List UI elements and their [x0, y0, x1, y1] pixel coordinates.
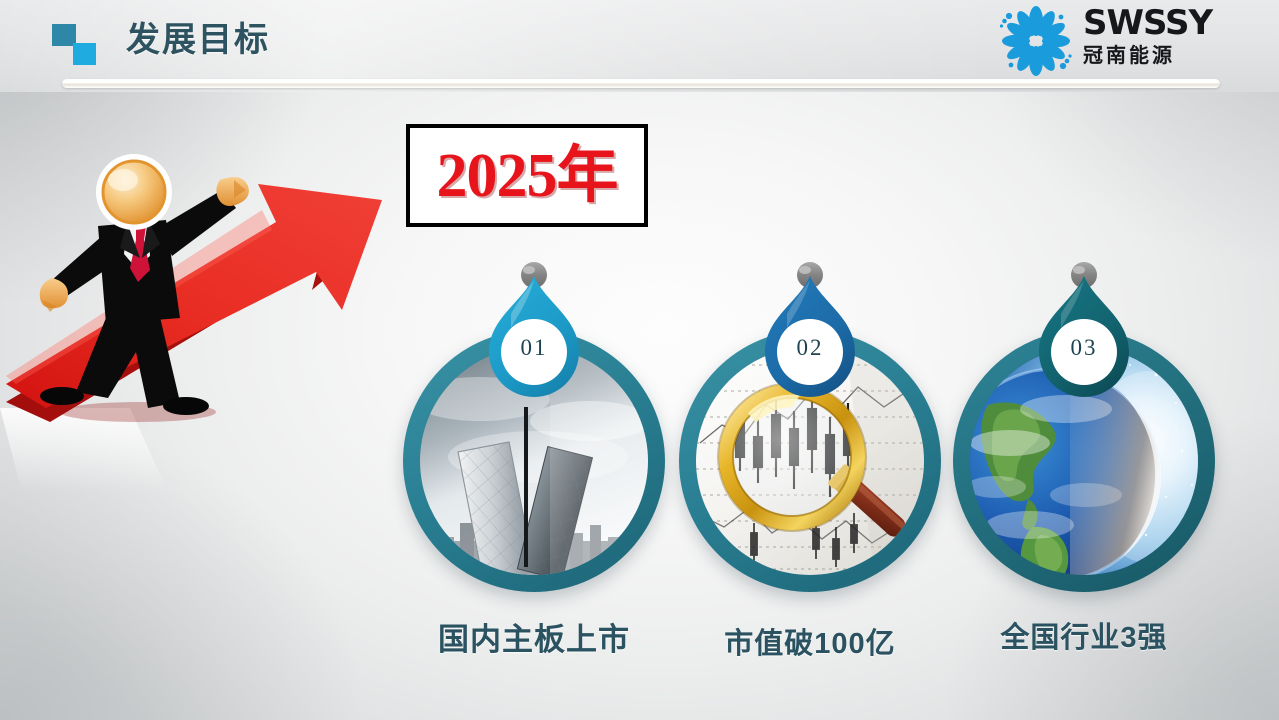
logo-subtext: 冠南能源 [1083, 43, 1263, 69]
header-divider [62, 79, 1220, 88]
badge-number-03: 03 [1021, 336, 1147, 360]
two-squares-icon [52, 24, 108, 64]
square-lower-right [73, 43, 96, 65]
company-logo: SWSSY 冠南能源 [999, 4, 1267, 78]
goal-caption-02: 市值破100亿 [653, 624, 967, 664]
badge-number-02: 02 [747, 336, 873, 360]
badge-03[interactable]: 03 [1021, 262, 1147, 414]
businessman-on-rising-red-arrow-illustration [0, 140, 410, 520]
swssy-petal-flower-logo-icon [999, 6, 1073, 76]
goal-caption-03: 全国行业3强 [927, 618, 1241, 658]
year-callout-box: 2025年 [406, 124, 648, 227]
badge-number-01: 01 [471, 336, 597, 360]
badge-02[interactable]: 02 [747, 262, 873, 414]
logo-text-block: SWSSY 冠南能源 [1083, 4, 1263, 69]
year-callout-text: 2025年 [436, 143, 617, 209]
logo-wordmark: SWSSY [1083, 4, 1263, 42]
slide-canvas: 发展目标 [0, 0, 1279, 720]
goal-caption-01: 国内主板上市 [377, 620, 691, 660]
page-title: 发展目标 [126, 18, 270, 62]
badge-01[interactable]: 01 [471, 262, 597, 414]
slide-header: 发展目标 [0, 0, 1279, 92]
